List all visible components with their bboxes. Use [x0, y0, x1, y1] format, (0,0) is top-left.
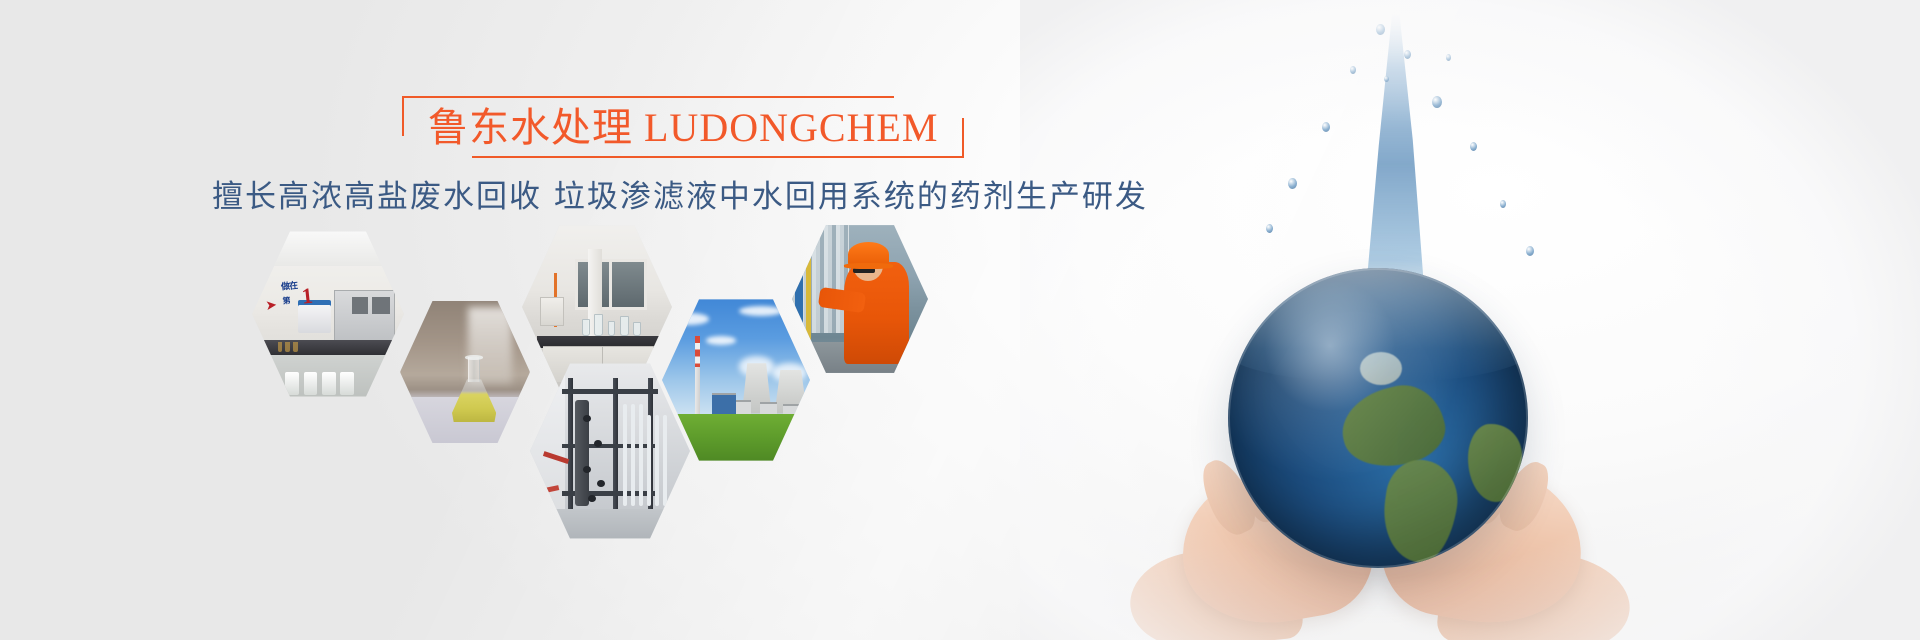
lab-bench [252, 340, 404, 355]
chimney-stack [695, 336, 701, 413]
chemical-drum [340, 372, 354, 394]
frame-corner-top-left-icon [402, 96, 420, 136]
worker-goggles [853, 268, 875, 273]
white-pipe [655, 415, 659, 506]
glassware [582, 319, 590, 336]
water-droplet [1376, 24, 1385, 35]
title-frame: 鲁东水处理 LUDONGCHEM [402, 96, 964, 158]
brand-title: 鲁东水处理 LUDONGCHEM [428, 104, 938, 152]
lab-glassware [285, 342, 290, 352]
flask-neck [468, 357, 480, 382]
white-pipe [663, 415, 667, 506]
lab-ceiling [252, 228, 404, 266]
white-pipe [631, 404, 635, 506]
hero-banner: 鲁东水处理 LUDONGCHEM 擅长高浓高盐废水回收 垃圾渗滤液中水回用系统的… [0, 0, 1920, 640]
hex-photo-yellow-flask [400, 298, 530, 446]
lab3-window [575, 259, 647, 310]
yellow-pipe [806, 250, 811, 342]
white-pipe [639, 404, 643, 506]
cloud [706, 336, 736, 344]
water-droplet [1404, 50, 1411, 59]
glassware [633, 322, 641, 336]
plant-building [760, 402, 778, 414]
water-droplet [1446, 54, 1451, 61]
water-droplet [1432, 96, 1442, 108]
valve [583, 415, 591, 422]
lab3-instrument [540, 297, 564, 326]
water-droplet [1500, 200, 1506, 208]
slogan-line2: 第 [282, 295, 291, 307]
hex-photo-laboratory-room: 做在 ➤ 第 1 [252, 228, 404, 400]
water-droplet [1288, 178, 1297, 189]
globe-rim [1228, 268, 1528, 568]
valve [588, 495, 596, 502]
water-splash-globe-artwork [1020, 0, 1920, 640]
lab-glassware [293, 342, 298, 352]
plant-building [783, 404, 801, 414]
slogan-arrow-icon: ➤ [266, 297, 277, 312]
water-droplet [1350, 66, 1356, 74]
flask-body-yellow-liquid [452, 379, 496, 422]
banner-subtitle: 擅长高浓高盐废水回收 垃圾渗滤液中水回用系统的药剂生产研发 [212, 176, 1032, 218]
chemical-drum [285, 372, 299, 394]
glassware [620, 316, 629, 336]
frame-corner-bottom-right-icon [946, 118, 964, 158]
plant-building [736, 400, 751, 413]
water-droplet [1266, 224, 1273, 233]
slogan-number: 1 [301, 286, 314, 307]
hex-photo-site-engineer [792, 222, 928, 376]
conical-flask [452, 357, 496, 422]
frame-line-top [420, 96, 894, 98]
valve [583, 466, 591, 473]
banner-text-block: 鲁东水处理 LUDONGCHEM 擅长高浓高盐废水回收 垃圾渗滤液中水回用系统的… [212, 96, 1032, 218]
wall-slogan-graphic: 做在 ➤ 第 1 [262, 271, 336, 323]
blue-pipe [795, 237, 803, 345]
water-droplet [1470, 142, 1477, 151]
chemical-drum [322, 372, 336, 394]
glassware [608, 321, 616, 336]
plant-building [712, 393, 736, 413]
flask-rim [465, 355, 483, 360]
frame-line-bottom [472, 156, 946, 158]
chemical-drum [304, 372, 318, 394]
skid-frame-rail [562, 389, 658, 394]
water-droplet [1322, 122, 1330, 132]
lab-glassware [278, 342, 283, 352]
earth-globe [1228, 268, 1528, 568]
cabinet-panel-b [352, 297, 367, 314]
cabinet-panel-a [372, 297, 390, 314]
white-pipe [623, 404, 627, 506]
cloud [671, 313, 709, 325]
worker-hard-hat [848, 242, 889, 267]
skid-floor [530, 509, 690, 542]
glassware [594, 314, 603, 336]
water-droplet [1384, 76, 1389, 82]
slogan-line1: 做在 [280, 278, 297, 293]
water-droplet [1526, 246, 1534, 256]
white-pipe [647, 415, 651, 506]
